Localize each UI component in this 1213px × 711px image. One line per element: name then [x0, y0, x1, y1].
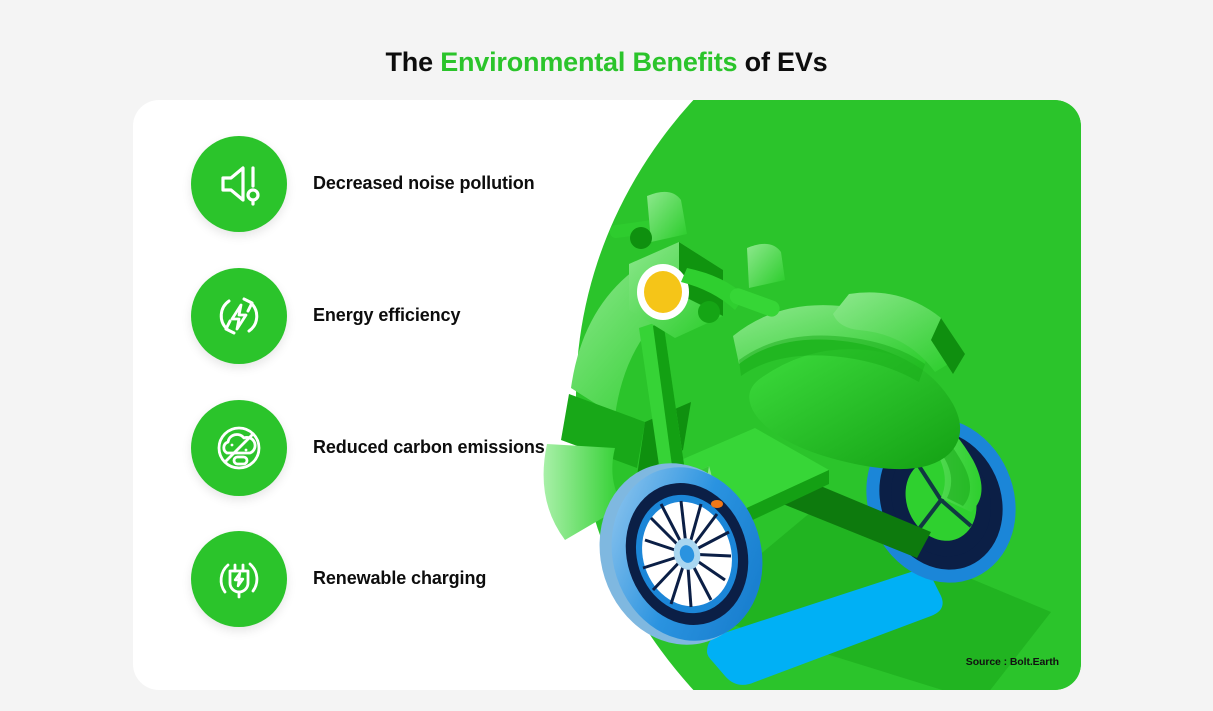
speaker-alert-icon: [191, 136, 287, 232]
benefit-label: Reduced carbon emissions: [313, 436, 545, 459]
title-prefix: The: [386, 47, 441, 77]
plug-bolt-circle-icon: [191, 531, 287, 627]
benefit-item-reduced-carbon-emissions[interactable]: Reduced carbon emissions: [191, 400, 661, 496]
page-title: The Environmental Benefits of EVs: [0, 47, 1213, 78]
benefit-item-renewable-charging[interactable]: Renewable charging: [191, 531, 661, 627]
recycle-bolt-icon: [191, 268, 287, 364]
no-emissions-cloud-icon: [191, 400, 287, 496]
title-suffix: of EVs: [737, 47, 827, 77]
source-attribution: Source : Bolt.Earth: [966, 656, 1059, 668]
benefit-item-energy-efficiency[interactable]: Energy efficiency: [191, 268, 661, 364]
benefit-label: Energy efficiency: [313, 304, 460, 327]
title-highlight: Environmental Benefits: [440, 47, 737, 77]
content-card: Decreased noise pollution Energy efficie…: [133, 100, 1081, 690]
infographic-root: The Environmental Benefits of EVs: [0, 0, 1213, 711]
benefit-item-decreased-noise-pollution[interactable]: Decreased noise pollution: [191, 136, 661, 232]
benefit-label: Renewable charging: [313, 567, 486, 590]
benefit-label: Decreased noise pollution: [313, 172, 535, 195]
